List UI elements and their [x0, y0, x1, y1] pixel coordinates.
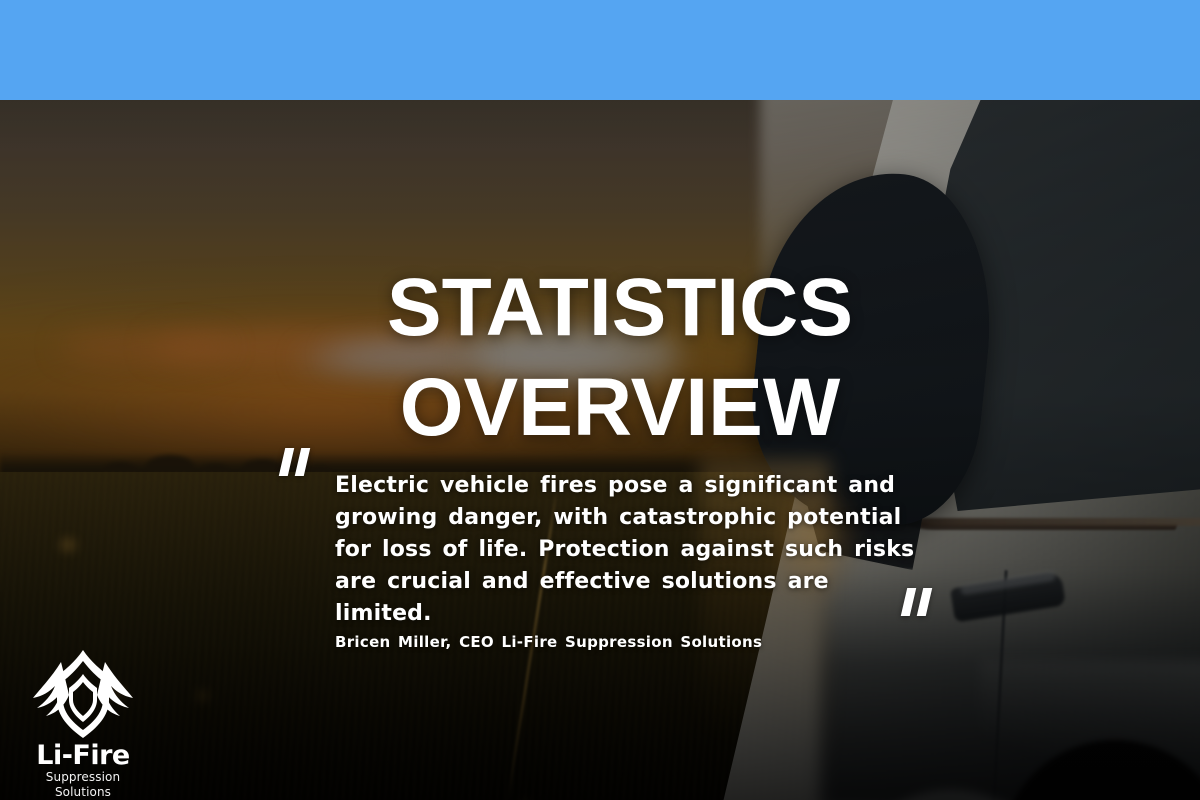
logo-brand-name: Li-Fire — [18, 742, 148, 770]
slide-content: STATISTICS OVERVIEW Electric vehicle fir… — [0, 100, 1200, 800]
flame-shield-icon — [31, 648, 135, 740]
brand-logo: Li-Fire Suppression Solutions — [18, 648, 148, 800]
quote-attribution: Bricen Miller, CEO Li-Fire Suppression S… — [335, 633, 762, 651]
quote-block: Electric vehicle fires pose a significan… — [335, 470, 915, 630]
slide-canvas: STATISTICS OVERVIEW Electric vehicle fir… — [0, 0, 1200, 800]
title-line-1: STATISTICS — [387, 262, 853, 353]
blue-banner — [0, 0, 1200, 100]
title-line-2: OVERVIEW — [180, 358, 1060, 458]
quote-open-icon — [280, 448, 312, 478]
logo-tagline: Suppression Solutions — [18, 770, 148, 800]
page-title: STATISTICS OVERVIEW — [180, 258, 1060, 458]
quote-text: Electric vehicle fires pose a significan… — [335, 470, 915, 630]
